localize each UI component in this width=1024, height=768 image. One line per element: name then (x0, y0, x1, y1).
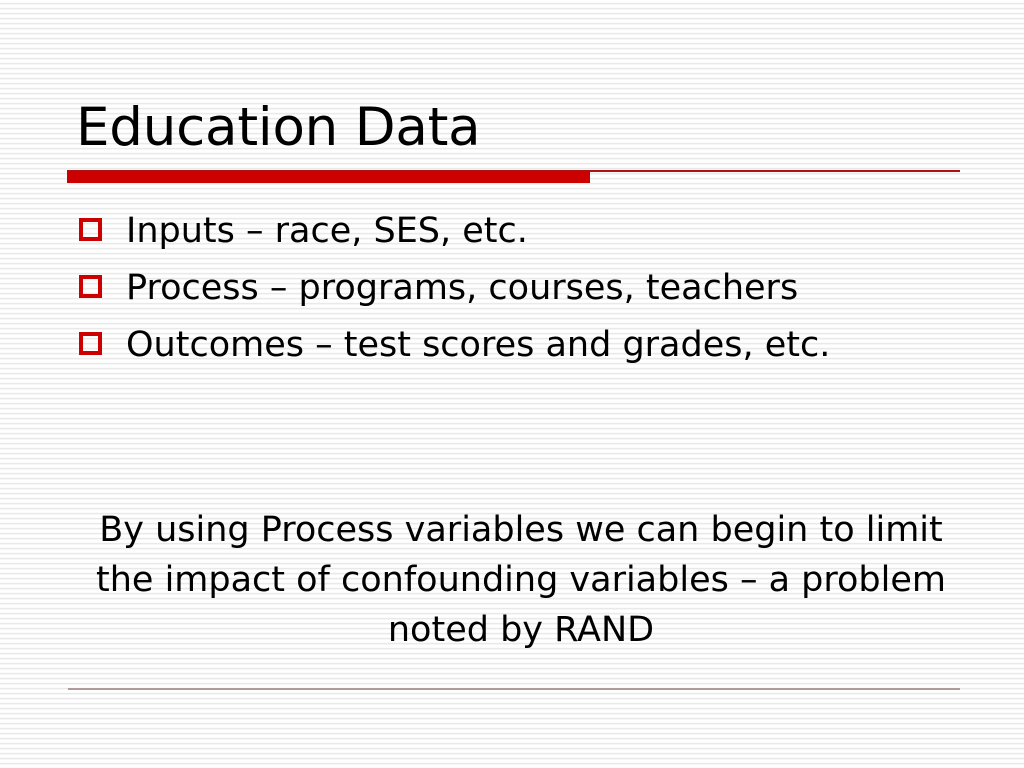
closing-paragraph: By using Process variables we can begin … (76, 505, 966, 655)
square-bullet-icon (79, 218, 102, 241)
square-bullet-icon (79, 332, 102, 355)
list-item-label: Process – programs, courses, teachers (126, 268, 798, 308)
slide-canvas: Education Data Inputs – race, SES, etc. … (0, 0, 1024, 768)
title-block: Education Data (76, 98, 956, 158)
list-item-label: Outcomes – test scores and grades, etc. (126, 325, 830, 365)
title-divider (67, 170, 960, 183)
square-bullet-icon (79, 275, 102, 298)
divider-accent-bar (67, 171, 590, 183)
page-title: Education Data (76, 98, 956, 158)
bullet-list: Inputs – race, SES, etc. Process – progr… (76, 204, 966, 375)
list-item: Inputs – race, SES, etc. (76, 204, 966, 259)
bottom-rule (68, 688, 960, 690)
list-item-label: Inputs – race, SES, etc. (126, 211, 528, 251)
list-item: Outcomes – test scores and grades, etc. (76, 318, 966, 373)
list-item: Process – programs, courses, teachers (76, 261, 966, 316)
